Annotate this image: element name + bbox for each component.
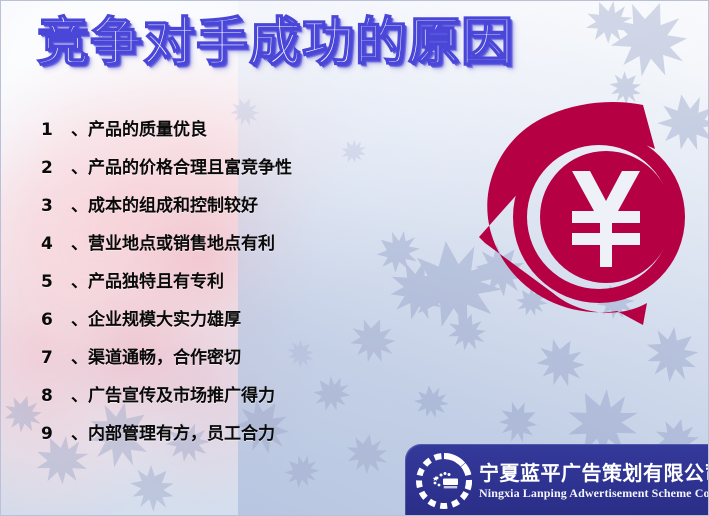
list-item-text: 渠道通畅，合作密切 (88, 343, 241, 368)
list-item-text: 广告宣传及市场推广得力 (88, 381, 275, 406)
company-footer-inner: 宁夏蓝平广告策划有限公司 Ningxia Lanping Adwertiseme… (413, 449, 706, 513)
list-item: 8 、 广告宣传及市场推广得力 (41, 381, 441, 419)
list-item-text: 产品独特且有专利 (88, 267, 224, 292)
slide-title: 竞争对手成功的原因 (37, 17, 597, 69)
list-item-text: 企业规模大实力雄厚 (88, 305, 241, 330)
list-item-text: 内部管理有方，员工合力 (88, 419, 275, 444)
list-item-text: 产品的质量优良 (88, 115, 207, 140)
company-name-block: 宁夏蓝平广告策划有限公司 Ningxia Lanping Adwertiseme… (479, 462, 709, 501)
list-item: 5 、 产品独特且有专利 (41, 267, 441, 305)
list-item: 3 、 成本的组成和控制较好 (41, 191, 441, 229)
list-item-separator: 、 (71, 191, 88, 216)
slide-title-container: 竞争对手成功的原因 (37, 17, 597, 95)
list-item-number: 6 (41, 310, 71, 330)
circular-dash-ring-icon (413, 450, 475, 512)
list-item-number: 5 (41, 272, 71, 292)
company-circular-logo-icon (413, 450, 475, 512)
list-item-number: 8 (41, 386, 71, 406)
list-item-separator: 、 (71, 305, 88, 330)
list-item: 4 、 营业地点或销售地点有利 (41, 229, 441, 267)
list-item-separator: 、 (71, 381, 88, 406)
list-item-separator: 、 (71, 343, 88, 368)
company-name-chinese: 宁夏蓝平广告策划有限公司 (479, 462, 709, 484)
list-item-separator: 、 (71, 115, 88, 140)
company-name-english: Ningxia Lanping Adwertisement Scheme Co.… (479, 486, 709, 500)
list-item-number: 1 (41, 120, 71, 140)
list-item-number: 4 (41, 234, 71, 254)
list-item-text: 产品的价格合理且富竞争性 (88, 153, 292, 178)
yuan-emblem-icon (467, 97, 707, 333)
list-item-separator: 、 (71, 267, 88, 292)
list-item: 7 、 渠道通畅，合作密切 (41, 343, 441, 381)
list-item-number: 2 (41, 158, 71, 178)
list-item-separator: 、 (71, 229, 88, 254)
list-item: 1 、 产品的质量优良 (41, 115, 441, 153)
list-item-separator: 、 (71, 419, 88, 444)
company-footer-bar: 宁夏蓝平广告策划有限公司 Ningxia Lanping Adwertiseme… (405, 444, 709, 516)
list-item: 6 、 企业规模大实力雄厚 (41, 305, 441, 343)
list-item-separator: 、 (71, 153, 88, 178)
list-item-number: 3 (41, 196, 71, 216)
yuan-currency-emblem (467, 97, 707, 333)
list-item: 9 、 内部管理有方，员工合力 (41, 419, 441, 457)
list-item-text: 成本的组成和控制较好 (88, 191, 258, 216)
presentation-slide: 竞争对手成功的原因 1 、 产品的质量优良 2 、 产品的价格合理且富竞争性 3… (0, 0, 709, 516)
list-item: 2 、 产品的价格合理且富竞争性 (41, 153, 441, 191)
list-item-number: 9 (41, 424, 71, 444)
bullet-list: 1 、 产品的质量优良 2 、 产品的价格合理且富竞争性 3 、 成本的组成和控… (41, 115, 441, 457)
list-item-number: 7 (41, 348, 71, 368)
list-item-text: 营业地点或销售地点有利 (88, 229, 275, 254)
